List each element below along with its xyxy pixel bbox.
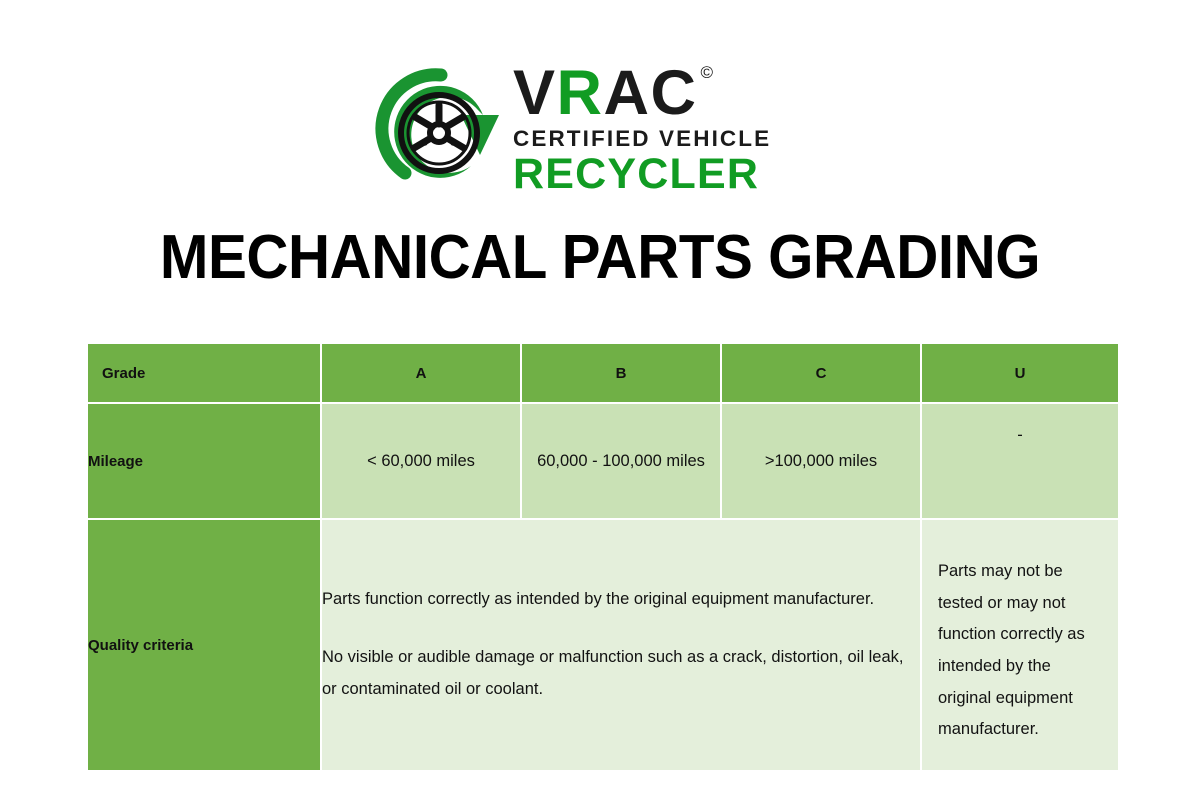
- header-grade-a: A: [322, 344, 520, 402]
- quality-criteria-u: Parts may not be tested or may not funct…: [922, 520, 1118, 770]
- logo-letters-ac: AC: [604, 58, 698, 128]
- logo-wordmark: VRAC© CERTIFIED VEHICLE RECYCLER: [513, 61, 835, 196]
- mileage-grade-u: -: [922, 404, 1118, 518]
- grading-table: Grade A B C U Mileage < 60,000 miles 60,…: [86, 342, 1120, 772]
- mileage-grade-b: 60,000 - 100,000 miles: [522, 404, 720, 518]
- logo-vrac-text: VRAC©: [513, 63, 712, 123]
- wheel-rim-icon: [401, 95, 477, 171]
- recycle-arrow-icon: [375, 63, 507, 195]
- quality-paragraph-2: No visible or audible damage or malfunct…: [322, 642, 920, 705]
- row-label-mileage: Mileage: [88, 404, 320, 518]
- header-grade-c: C: [722, 344, 920, 402]
- logo-tagline: CERTIFIED VEHICLE: [513, 126, 835, 152]
- mileage-grade-a: < 60,000 miles: [322, 404, 520, 518]
- page-root: VRAC© CERTIFIED VEHICLE RECYCLER MECHANI…: [0, 0, 1200, 800]
- header-grade-b: B: [522, 344, 720, 402]
- header-grade-u: U: [922, 344, 1118, 402]
- mileage-grade-c: >100,000 miles: [722, 404, 920, 518]
- row-label-quality: Quality criteria: [88, 520, 320, 770]
- quality-paragraph-1: Parts function correctly as intended by …: [322, 584, 920, 616]
- header-grade-label: Grade: [88, 344, 320, 402]
- table-row-quality: Quality criteria Parts function correctl…: [88, 520, 1118, 770]
- quality-criteria-abc: Parts function correctly as intended by …: [322, 520, 920, 770]
- logo-mark: [375, 63, 507, 195]
- logo-letter-v: V: [513, 58, 557, 128]
- table-header-row: Grade A B C U: [88, 344, 1118, 402]
- logo-letter-r: R: [557, 58, 604, 128]
- copyright-icon: ©: [701, 63, 715, 82]
- vrac-logo: VRAC© CERTIFIED VEHICLE RECYCLER: [375, 58, 835, 200]
- table-row-mileage: Mileage < 60,000 miles 60,000 - 100,000 …: [88, 404, 1118, 518]
- page-title: MECHANICAL PARTS GRADING: [36, 222, 1164, 293]
- logo-recycler-text: RECYCLER: [513, 153, 835, 197]
